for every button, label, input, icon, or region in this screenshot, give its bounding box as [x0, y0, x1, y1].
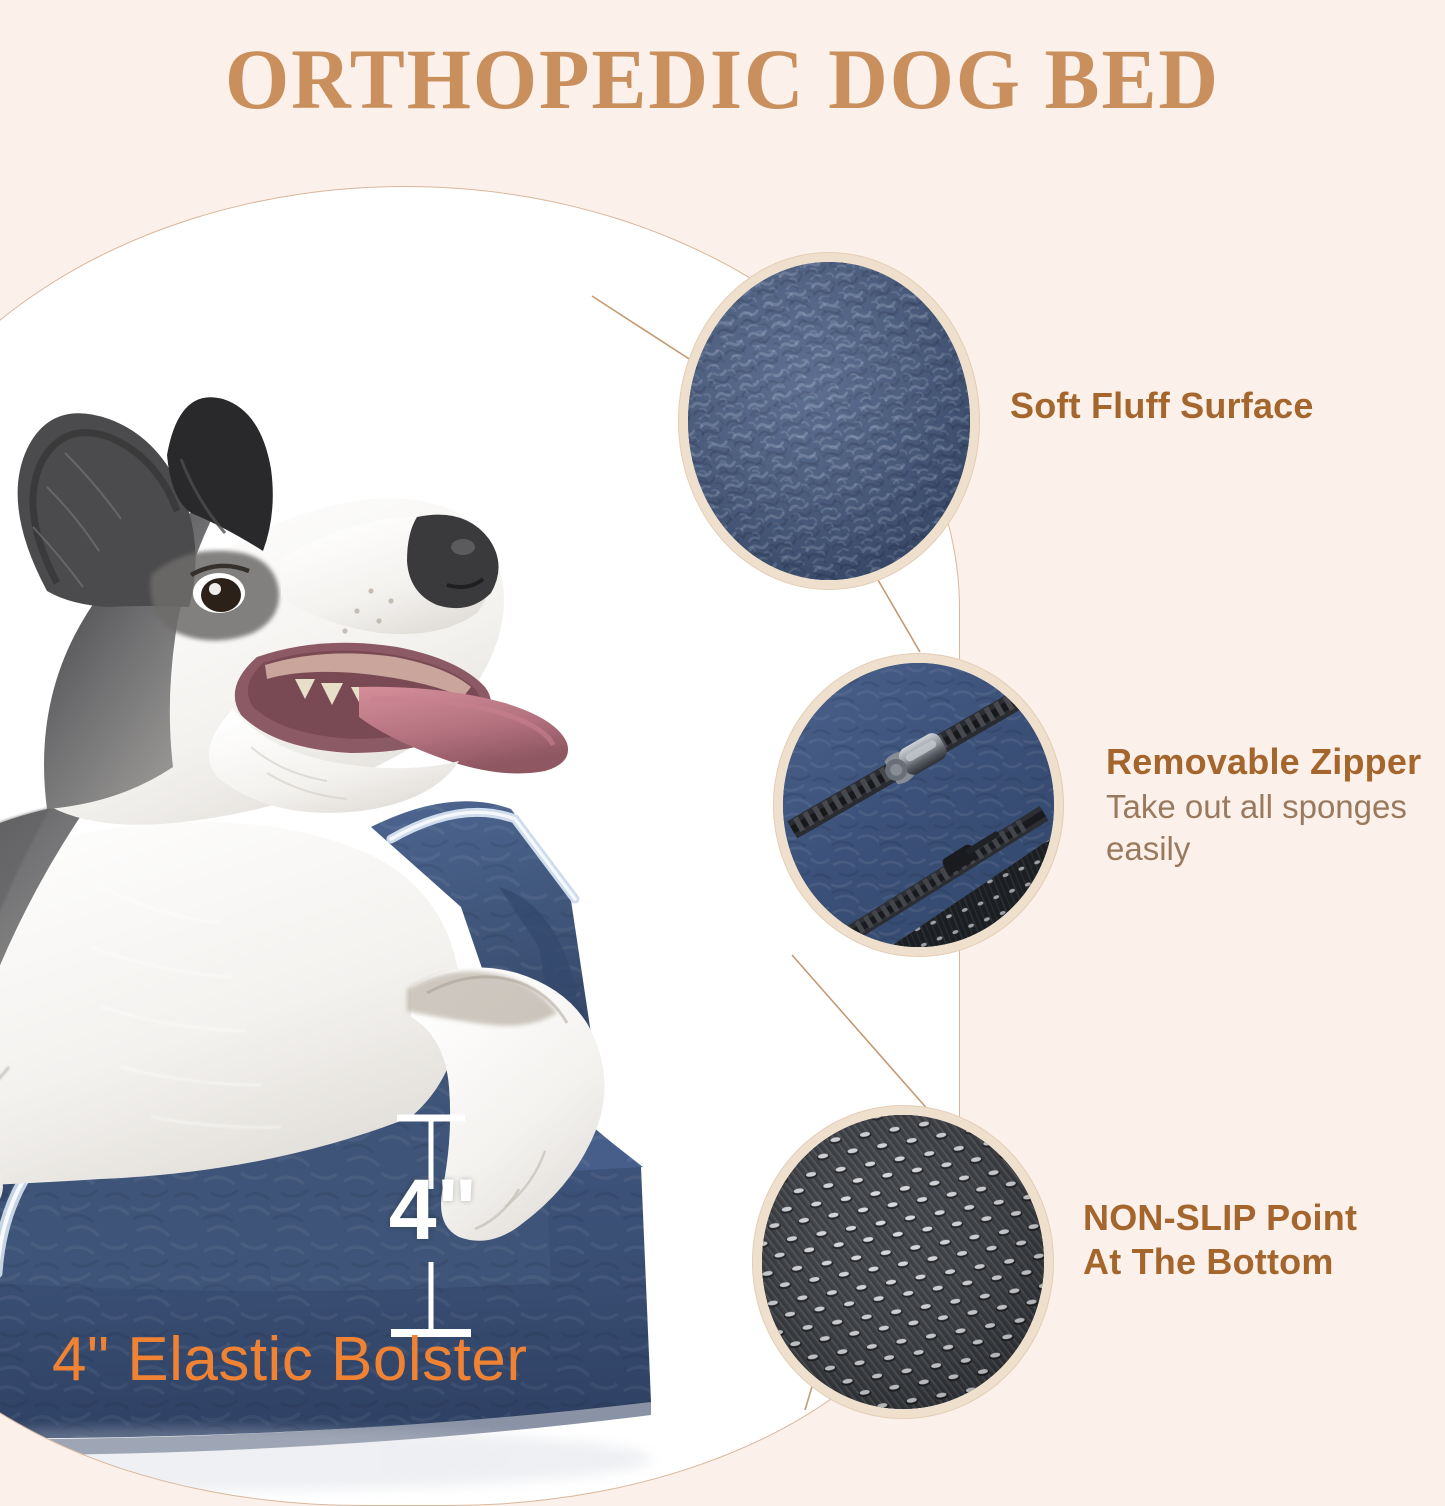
- zipper-detail-texture: [783, 663, 1062, 955]
- feature-heading: Removable Zipper: [1106, 740, 1436, 784]
- bolster-caption: 4" Elastic Bolster: [52, 1324, 528, 1395]
- feature-heading: NON-SLIP Point: [1083, 1196, 1357, 1240]
- infographic-root: ORTHOPEDIC DOG BED: [0, 0, 1445, 1445]
- feature-swatch-soft-fluff-surface: [679, 253, 979, 589]
- dimension-value-label: 4": [358, 1167, 508, 1253]
- page-title: ORTHOPEDIC DOG BED: [29, 36, 1416, 122]
- feature-swatch-removable-zipper: [774, 654, 1063, 956]
- feature-label-non-slip-point: NON-SLIP Point At The Bottom: [1083, 1196, 1357, 1284]
- feature-label-soft-fluff-surface: Soft Fluff Surface: [1010, 384, 1314, 428]
- feature-heading: Soft Fluff Surface: [1010, 384, 1314, 428]
- feature-label-removable-zipper: Removable Zipper Take out all sponges ea…: [1106, 740, 1436, 870]
- feature-swatch-non-slip-point: [753, 1106, 1053, 1418]
- non-slip-dotted-texture: [762, 1115, 1052, 1417]
- feature-subtext: Take out all sponges easily: [1106, 786, 1436, 870]
- feature-heading-line2: At The Bottom: [1083, 1240, 1357, 1284]
- blue-fluff-texture: [688, 262, 978, 588]
